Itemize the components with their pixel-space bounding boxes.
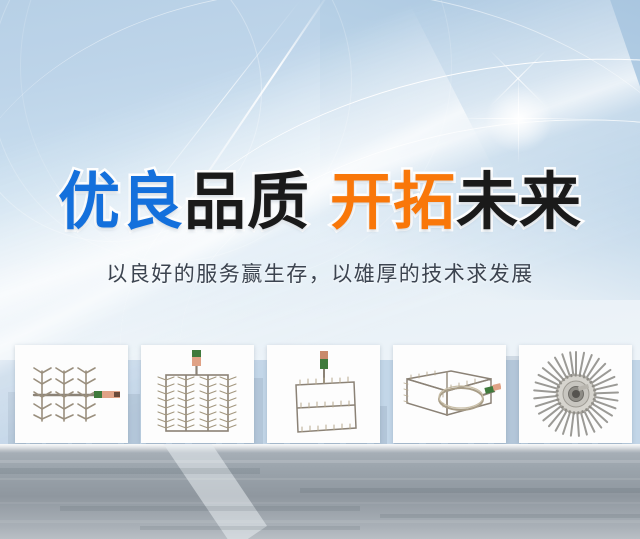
subtitle-wrapper: 以良好的服务赢生存，以雄厚的技术求发展 [0, 258, 640, 290]
product-card-strip [0, 345, 640, 444]
sunburst-plating-rack-icon [519, 345, 632, 443]
ladder-spike-plating-rack-icon [141, 345, 254, 443]
flare-ray-vertical [518, 72, 519, 164]
headline-segment-blue: 优良 [58, 165, 184, 238]
panel-ring-plating-rack-icon [393, 345, 506, 443]
product-card-1[interactable] [15, 345, 128, 443]
frame-plating-rack-icon [267, 345, 380, 443]
ground-surface [0, 444, 640, 539]
promo-banner: 优良品质开拓未来 以良好的服务赢生存，以雄厚的技术求发展 [0, 0, 640, 539]
headline-segment-black-1: 品质 [184, 165, 310, 238]
headline-segment-orange: 开拓 [330, 165, 456, 238]
product-card-5[interactable] [519, 345, 632, 443]
ground-diagonal-stripe [150, 444, 267, 539]
subtitle: 以良好的服务赢生存，以雄厚的技术求发展 [106, 258, 534, 290]
light-star-flare [518, 118, 520, 120]
flare-glow [484, 84, 554, 154]
headline-segment-black-2: 未来 [456, 165, 582, 238]
product-card-4[interactable] [393, 345, 506, 443]
multi-branch-plating-rack-icon [15, 345, 128, 443]
headline: 优良品质开拓未来 [0, 166, 640, 238]
ground-highlight [0, 444, 640, 453]
product-card-2[interactable] [141, 345, 254, 443]
product-card-3[interactable] [267, 345, 380, 443]
